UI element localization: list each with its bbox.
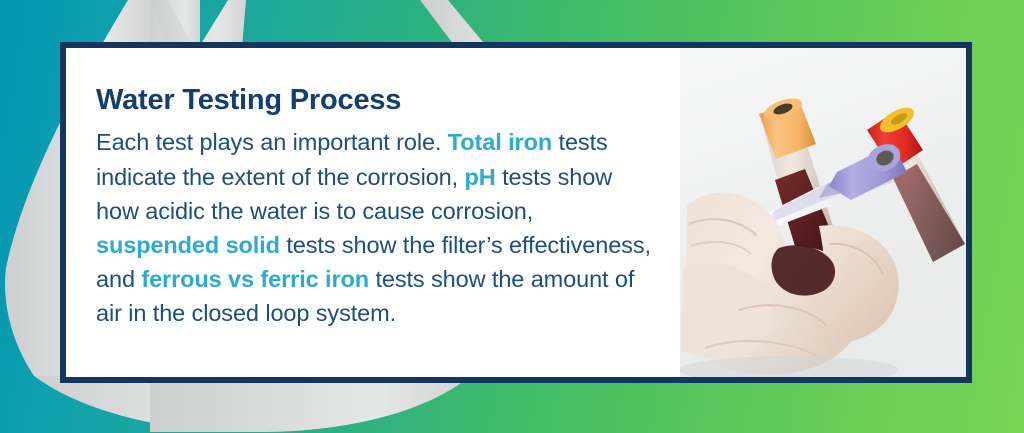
highlight-ferrous-vs-ferric-iron: ferrous vs ferric iron	[141, 266, 369, 292]
highlight-total-iron: Total iron	[448, 129, 552, 155]
infographic-banner: Water Testing Process Each test plays an…	[0, 0, 1024, 433]
page-title: Water Testing Process	[96, 84, 652, 117]
test-tubes-photo	[680, 48, 966, 377]
body-segment-1: Each test plays an important role.	[96, 129, 448, 155]
card-text-column: Water Testing Process Each test plays an…	[66, 48, 680, 377]
highlight-ph: pH	[465, 164, 496, 190]
card-body-text: Each test plays an important role. Total…	[96, 125, 652, 330]
content-card: Water Testing Process Each test plays an…	[60, 42, 972, 383]
highlight-suspended-solid: suspended solid	[96, 232, 280, 258]
